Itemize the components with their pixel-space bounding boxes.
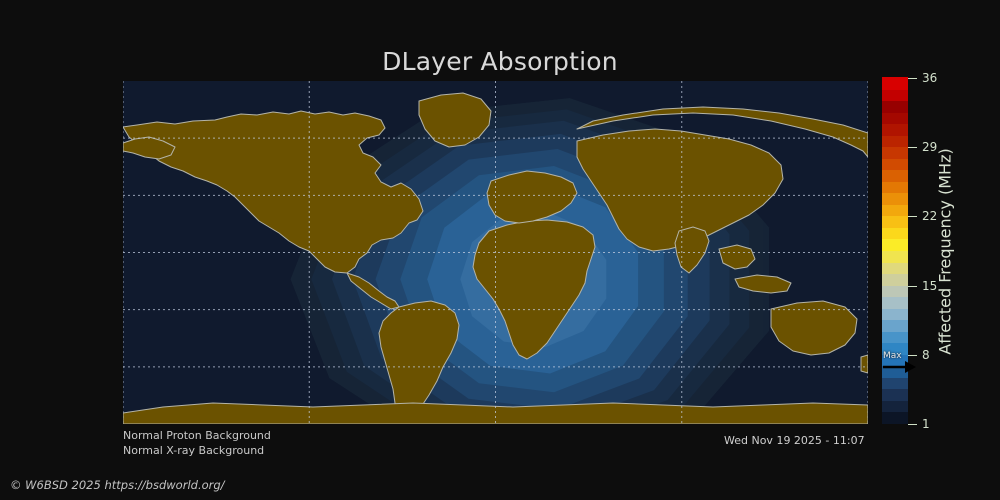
colorbar-segment [882,112,908,124]
colorbar-tick [908,424,917,425]
colorbar-segment [882,400,908,412]
credit-footer[interactable]: © W6BSD 2025 https://bsdworld.org/ [10,478,225,492]
status-notes: Normal Proton Background Normal X-ray Ba… [123,428,271,458]
colorbar-segment [882,285,908,297]
colorbar-segment [882,170,908,182]
colorbar[interactable]: 1815222936 [882,78,908,424]
colorbar-segment [882,331,908,343]
colorbar-segment [882,124,908,136]
colorbar-segment [882,216,908,228]
colorbar-segment [882,389,908,401]
colorbar-segment [882,227,908,239]
colorbar-segment [882,77,908,89]
proton-background-note: Normal Proton Background [123,428,271,443]
colorbar-segment [882,297,908,309]
colorbar-segment [882,377,908,389]
colorbar-segment [882,308,908,320]
colorbar-tick-label: 1 [922,418,930,430]
world-map-svg: #map-svg{ --land:#6b5200; } .coast{fill:… [123,81,868,424]
colorbar-segment [882,135,908,147]
colorbar-segment [882,354,908,366]
colorbar-gradient [882,78,908,424]
colorbar-segment [882,412,908,424]
timestamp: Wed Nov 19 2025 - 11:07 [724,434,865,448]
colorbar-axis-title: Affected Frequency (MHz) [932,78,958,424]
colorbar-segment [882,147,908,159]
colorbar-segment [882,366,908,378]
colorbar-tick [908,286,917,287]
colorbar-tick [908,355,917,356]
colorbar-segment [882,158,908,170]
colorbar-segment [882,273,908,285]
xray-background-note: Normal X-ray Background [123,443,271,458]
colorbar-tick [908,216,917,217]
colorbar-segment [882,193,908,205]
colorbar-tick-label: 8 [922,349,930,361]
colorbar-segment [882,250,908,262]
colorbar-segment [882,100,908,112]
world-map-panel[interactable]: #map-svg{ --land:#6b5200; } .coast{fill:… [123,81,868,424]
colorbar-segment [882,181,908,193]
colorbar-tick [908,147,917,148]
colorbar-segment [882,343,908,355]
colorbar-tick [908,78,917,79]
colorbar-segment [882,239,908,251]
page-title: DLayer Absorption [0,47,1000,77]
app-root: DLayer Absorption [0,0,1000,500]
colorbar-segment [882,262,908,274]
colorbar-segment [882,204,908,216]
colorbar-segment [882,320,908,332]
colorbar-axis-title-text: Affected Frequency (MHz) [936,148,955,354]
colorbar-segment [882,89,908,101]
